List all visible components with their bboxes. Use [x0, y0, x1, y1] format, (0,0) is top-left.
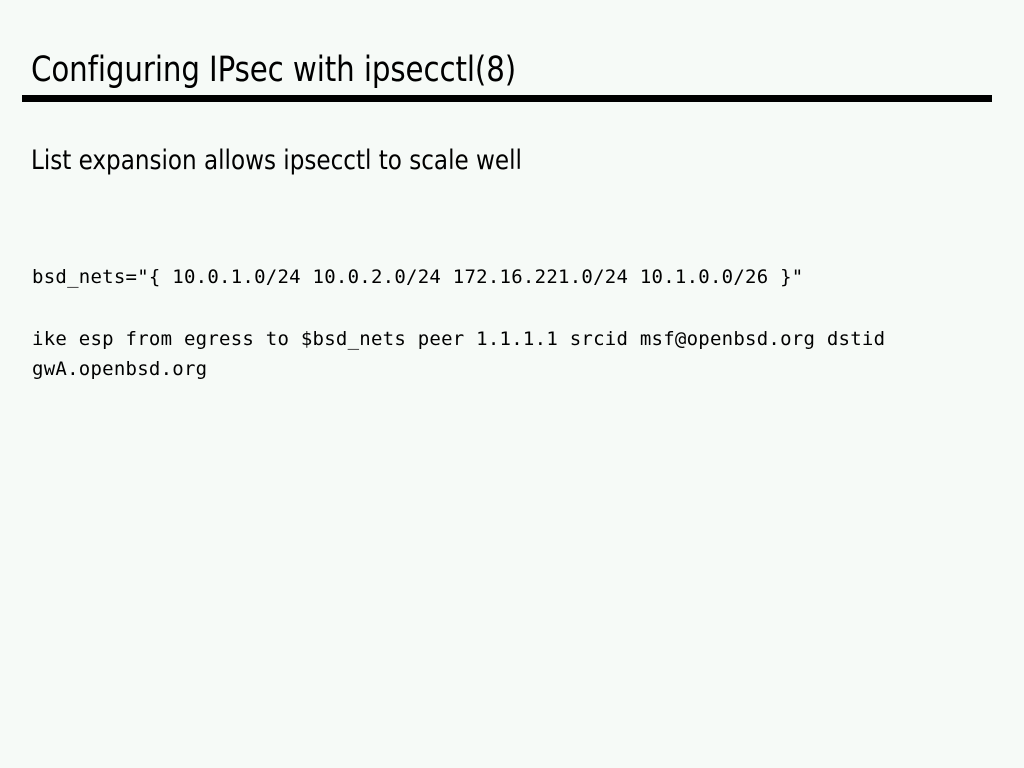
page-title: Configuring IPsec with ipsecctl(8) [31, 50, 516, 90]
presentation-slide: Configuring IPsec with ipsecctl(8) List … [0, 0, 1024, 768]
code-line-ike-rule: ike esp from egress to $bsd_nets peer 1.… [32, 324, 992, 384]
code-line-bsd-nets: bsd_nets="{ 10.0.1.0/24 10.0.2.0/24 172.… [32, 262, 992, 292]
code-block: bsd_nets="{ 10.0.1.0/24 10.0.2.0/24 172.… [32, 262, 992, 384]
slide-body-text: List expansion allows ipsecctl to scale … [31, 144, 522, 178]
title-divider [22, 95, 992, 102]
